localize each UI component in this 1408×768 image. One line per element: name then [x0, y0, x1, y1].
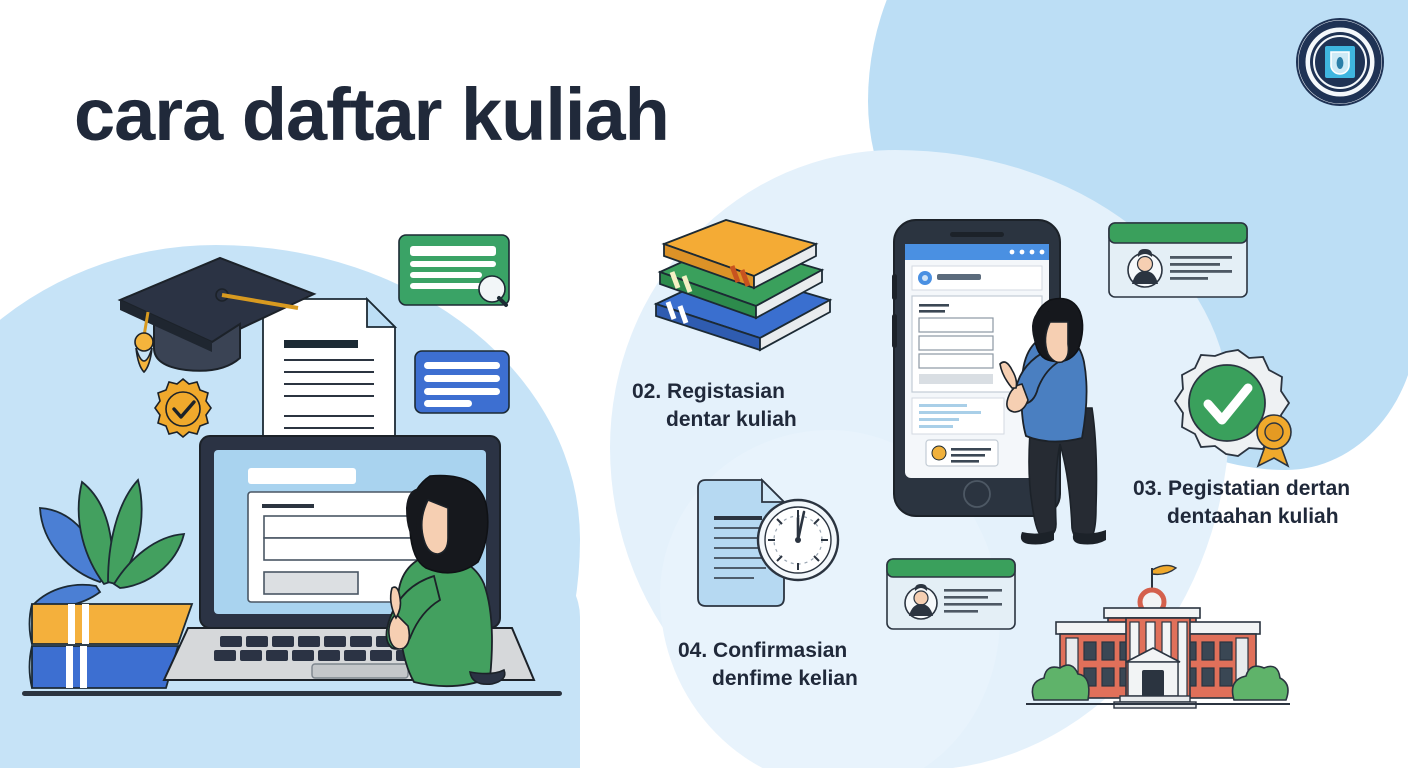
- page-title: cara daftar kuliah: [74, 78, 669, 152]
- university-seal-logo: [1294, 16, 1386, 108]
- step-03-label: 03. Pegistatian dertan dentaahan kuliah: [1133, 475, 1350, 530]
- graduation-cap: [112, 250, 322, 380]
- step-04-number: 04.: [678, 639, 707, 662]
- infographic-canvas: cara daftar kuliah: [0, 0, 1408, 768]
- step-03-line1: Pegistatian dertan: [1168, 477, 1350, 500]
- step-04-line2: denfime kelian: [678, 665, 858, 693]
- id-card-bottom: [886, 558, 1016, 630]
- blue-form-card: [414, 350, 510, 414]
- document-with-clock: [694, 478, 844, 612]
- book-stack: [650, 218, 836, 350]
- green-check-badge: [1164, 348, 1314, 474]
- step-04-label: 04. Confirmasian denfime kelian: [678, 637, 858, 692]
- step-02-label: 02. Registasian dentar kuliah: [632, 378, 797, 433]
- step-02-number: 02.: [632, 380, 661, 403]
- student-at-laptop: [374, 446, 554, 692]
- campus-building: [1022, 560, 1294, 710]
- step-02-line2: dentar kuliah: [632, 406, 797, 434]
- step-03-number: 03.: [1133, 477, 1162, 500]
- id-card-top: [1108, 222, 1248, 298]
- gold-check-seal: [152, 378, 214, 440]
- step-03-line2: dentaahan kuliah: [1133, 503, 1350, 531]
- student-at-phone: [1016, 288, 1126, 546]
- step-04-line1: Confirmasian: [713, 639, 847, 662]
- green-form-card: [398, 234, 510, 312]
- step-02-line1: Registasian: [667, 380, 785, 403]
